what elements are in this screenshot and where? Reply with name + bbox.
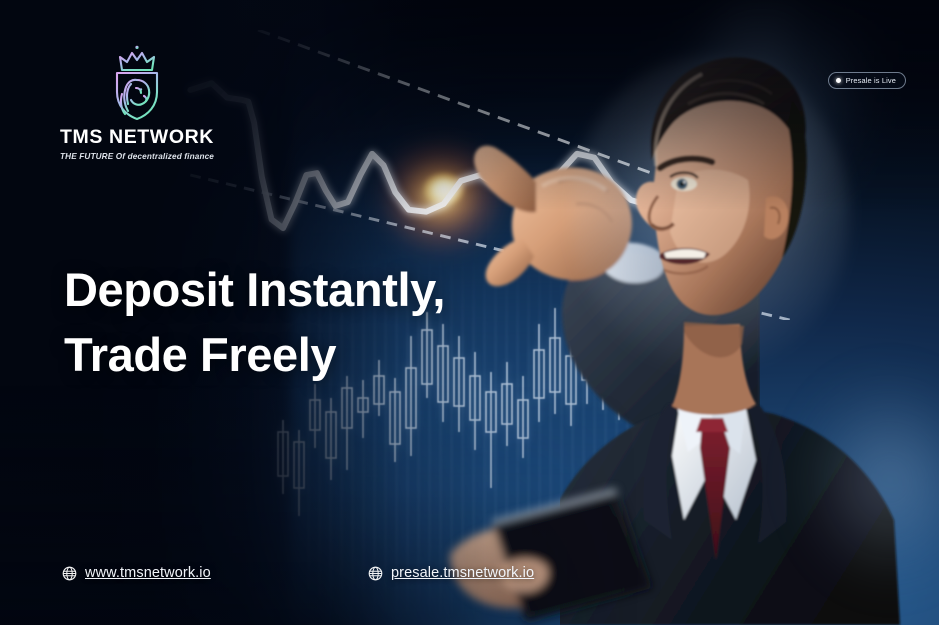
footer-link-website[interactable]: www.tmsnetwork.io bbox=[62, 565, 211, 581]
status-badge[interactable]: Presale is Live bbox=[828, 72, 906, 89]
footer-link-presale-label: presale.tmsnetwork.io bbox=[391, 565, 534, 581]
page-title: Deposit Instantly, Trade Freely bbox=[64, 258, 445, 388]
headline-line-1: Deposit Instantly, bbox=[64, 258, 445, 323]
headline-line-2: Trade Freely bbox=[64, 323, 445, 388]
globe-icon bbox=[368, 566, 383, 581]
globe-icon bbox=[62, 566, 77, 581]
background-bottom-veil bbox=[0, 385, 939, 625]
live-status-dot-icon bbox=[836, 78, 841, 83]
tms-network-banner: TMS NETWORK THE FUTURE Of decentralized … bbox=[0, 0, 939, 625]
logo-tagline: THE FUTURE Of decentralized finance bbox=[60, 152, 214, 161]
tms-network-logo[interactable]: TMS NETWORK THE FUTURE Of decentralized … bbox=[57, 44, 217, 161]
status-badge-label: Presale is Live bbox=[846, 76, 896, 85]
footer-link-website-label: www.tmsnetwork.io bbox=[85, 565, 211, 581]
lion-head-crown-shield-icon bbox=[106, 44, 168, 122]
footer-links: www.tmsnetwork.io presale.tmsnetwork.io bbox=[0, 565, 939, 587]
footer-link-presale[interactable]: presale.tmsnetwork.io bbox=[368, 565, 534, 581]
logo-wordmark: TMS NETWORK bbox=[60, 128, 214, 148]
